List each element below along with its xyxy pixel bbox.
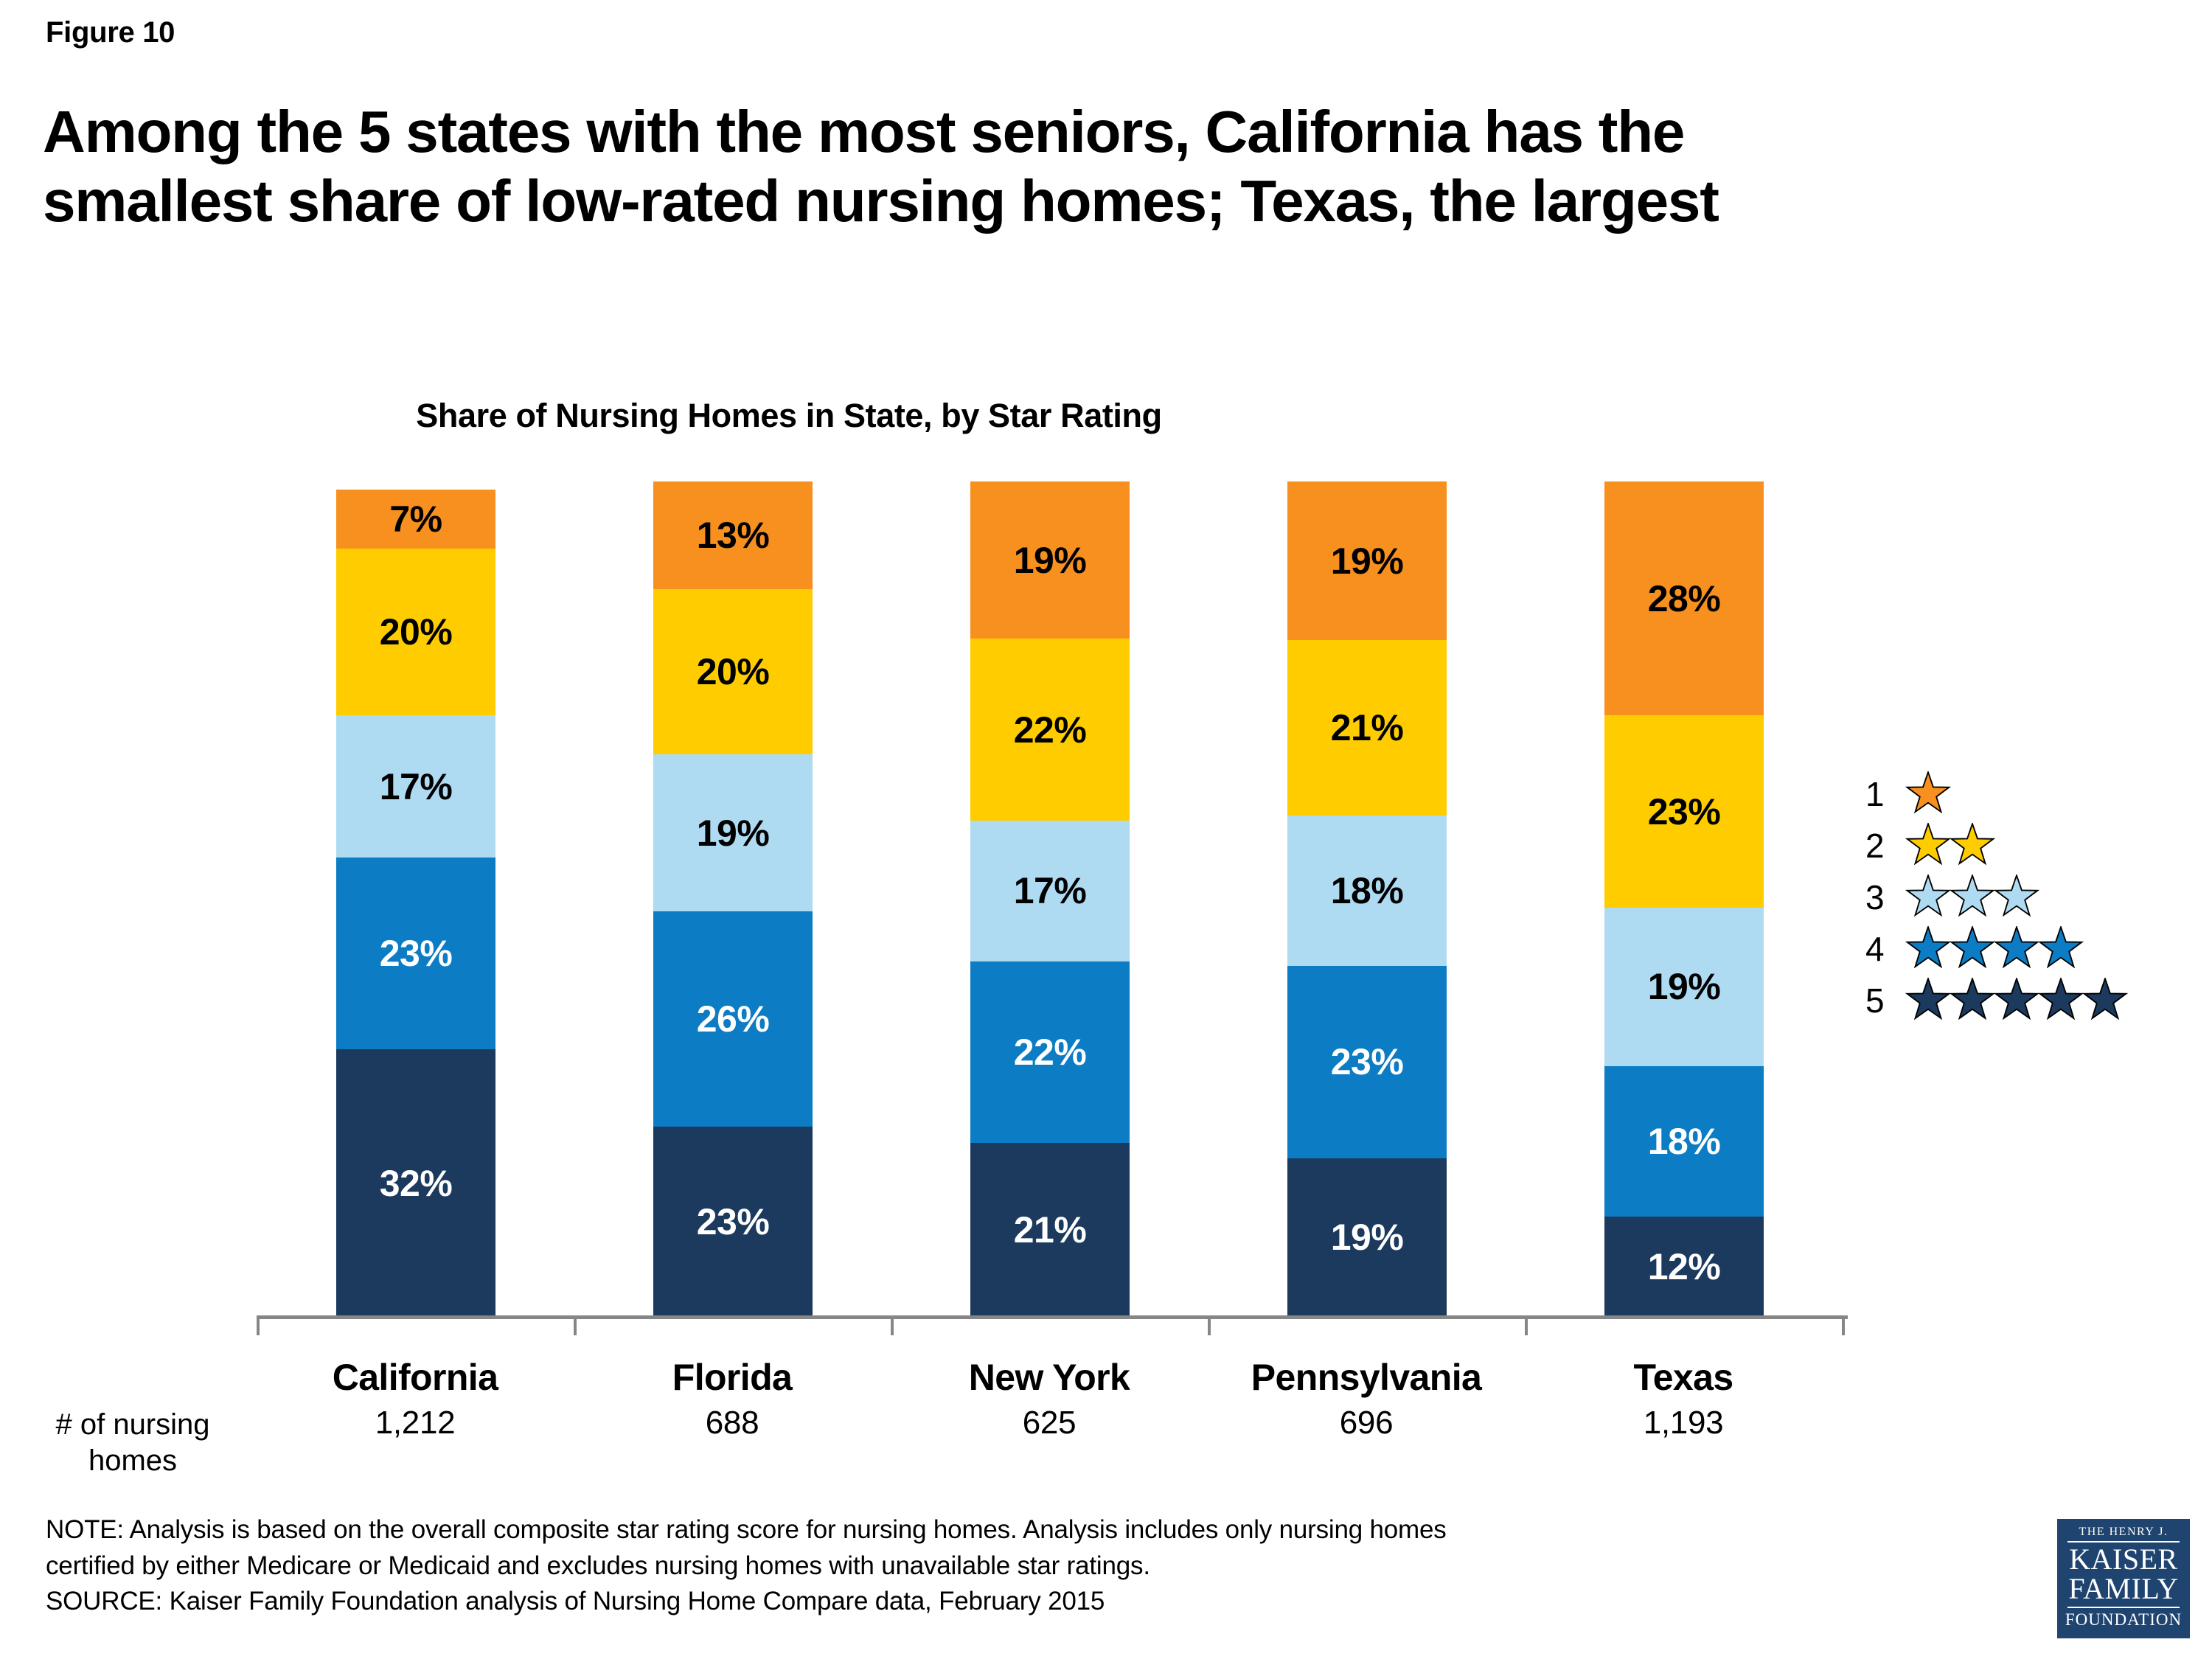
bar-column: 19%22%17%22%21% bbox=[970, 481, 1130, 1317]
bar-segment-label: 19% bbox=[697, 815, 770, 852]
bar-segment: 21% bbox=[970, 1143, 1130, 1317]
x-axis-category-count: 688 bbox=[574, 1406, 891, 1440]
star-icon bbox=[1905, 771, 1950, 817]
x-axis-tick bbox=[1525, 1317, 1528, 1335]
x-axis-category-count: 1,193 bbox=[1525, 1406, 1842, 1440]
bar-segment: 23% bbox=[1287, 966, 1447, 1158]
star-icon bbox=[1950, 926, 1994, 972]
chart-plot-area: 7%20%17%23%32%13%20%19%26%23%19%22%17%22… bbox=[257, 481, 1849, 1317]
page-title-line-2: smallest share of low-rated nursing home… bbox=[43, 167, 2181, 236]
bar-segment: 23% bbox=[1604, 715, 1764, 908]
footnote-note-line-2: certified by either Medicare or Medicaid… bbox=[46, 1549, 2007, 1584]
star-icon bbox=[1905, 823, 1950, 869]
bar-segment: 17% bbox=[970, 821, 1130, 961]
bar-segment: 12% bbox=[1604, 1217, 1764, 1317]
x-axis-category-name: California bbox=[257, 1357, 574, 1397]
x-axis-tick bbox=[574, 1317, 577, 1335]
legend-row-5-star[interactable]: 5 bbox=[1865, 975, 2126, 1026]
bar-segment: 19% bbox=[1604, 908, 1764, 1066]
bar-segment: 22% bbox=[970, 961, 1130, 1144]
logo-divider-bottom bbox=[2067, 1607, 2180, 1608]
legend-star-group bbox=[1905, 978, 2126, 1023]
bar-segment: 21% bbox=[1287, 640, 1447, 815]
logo-line-1: THE HENRY J. bbox=[2057, 1526, 2190, 1539]
x-axis-category-group: California1,212 bbox=[257, 1357, 574, 1440]
star-icon bbox=[1905, 874, 1950, 920]
x-axis-category-count: 1,212 bbox=[257, 1406, 574, 1440]
axis-row-label-line-2: homes bbox=[22, 1443, 243, 1479]
bar-segment-label: 23% bbox=[380, 935, 453, 972]
star-icon bbox=[2038, 978, 2082, 1023]
chart-subtitle: Share of Nursing Homes in State, by Star… bbox=[0, 397, 1578, 435]
x-axis-tick bbox=[257, 1317, 260, 1335]
legend-star-group bbox=[1905, 926, 2082, 972]
bar-segment: 7% bbox=[336, 490, 495, 548]
x-axis-category-group: Texas1,193 bbox=[1525, 1357, 1842, 1440]
axis-row-label-line-1: # of nursing bbox=[22, 1407, 243, 1443]
footnote: NOTE: Analysis is based on the overall c… bbox=[46, 1513, 2007, 1621]
x-axis-tick bbox=[891, 1317, 894, 1335]
legend-rating-number: 5 bbox=[1865, 984, 1901, 1018]
kaiser-family-foundation-logo: THE HENRY J. KAISER FAMILY FOUNDATION bbox=[2057, 1519, 2190, 1638]
star-icon bbox=[1994, 926, 2038, 972]
bar-segment: 18% bbox=[1604, 1066, 1764, 1217]
bar-segment-label: 19% bbox=[1014, 542, 1087, 579]
bar-segment-label: 18% bbox=[1648, 1123, 1721, 1160]
bar-segment: 19% bbox=[1287, 481, 1447, 640]
bar-segment-label: 26% bbox=[697, 1001, 770, 1037]
bar-column: 28%23%19%18%12% bbox=[1604, 481, 1764, 1317]
bar-segment: 17% bbox=[336, 715, 495, 858]
bar-segment-label: 20% bbox=[697, 653, 770, 690]
x-axis-category-name: Florida bbox=[574, 1357, 891, 1397]
bar-segment: 26% bbox=[653, 911, 813, 1127]
legend-star-group bbox=[1905, 771, 1950, 817]
bar-segment-label: 23% bbox=[1648, 793, 1721, 830]
bar-segment-label: 19% bbox=[1331, 543, 1404, 580]
x-axis-category-name: New York bbox=[891, 1357, 1208, 1397]
bar-segment-label: 19% bbox=[1331, 1219, 1404, 1256]
bar-segment-label: 19% bbox=[1648, 968, 1721, 1005]
chart-legend: 12345 bbox=[1865, 768, 2126, 1026]
bar-segment: 18% bbox=[1287, 815, 1447, 966]
bar-segment: 32% bbox=[336, 1049, 495, 1317]
bar-segment: 23% bbox=[336, 858, 495, 1050]
bar-segment: 19% bbox=[1287, 1158, 1447, 1317]
bar-segment-label: 22% bbox=[1014, 712, 1087, 748]
axis-row-label: # of nursing homes bbox=[22, 1407, 243, 1479]
bar-segment-label: 28% bbox=[1648, 580, 1721, 617]
x-axis-category-count: 696 bbox=[1208, 1406, 1525, 1440]
bar-segment: 19% bbox=[653, 754, 813, 911]
logo-line-3: FAMILY bbox=[2057, 1574, 2190, 1604]
logo-line-4: FOUNDATION bbox=[2057, 1610, 2190, 1629]
bar-segment-label: 18% bbox=[1331, 872, 1404, 909]
bar-segment: 28% bbox=[1604, 481, 1764, 715]
x-axis-category-name: Pennsylvania bbox=[1208, 1357, 1525, 1397]
bar-segment-label: 23% bbox=[697, 1203, 770, 1240]
page-title: Among the 5 states with the most seniors… bbox=[43, 97, 2181, 235]
star-icon bbox=[1994, 978, 2038, 1023]
bar-segment-label: 32% bbox=[380, 1165, 453, 1202]
bar-segment-label: 13% bbox=[697, 517, 770, 554]
bar-segment: 20% bbox=[336, 549, 495, 716]
bar-column: 13%20%19%26%23% bbox=[653, 481, 813, 1317]
x-axis-category-name: Texas bbox=[1525, 1357, 1842, 1397]
bar-segment-label: 22% bbox=[1014, 1034, 1087, 1071]
bar-segment-label: 20% bbox=[380, 613, 453, 650]
logo-line-2: KAISER bbox=[2057, 1545, 2190, 1575]
star-icon bbox=[1905, 926, 1950, 972]
legend-star-group bbox=[1905, 823, 1994, 869]
legend-row-1-star[interactable]: 1 bbox=[1865, 768, 2126, 820]
legend-row-2-star[interactable]: 2 bbox=[1865, 820, 2126, 872]
star-icon bbox=[1905, 978, 1950, 1023]
bar-segment: 20% bbox=[653, 589, 813, 754]
bar-segment-label: 23% bbox=[1331, 1043, 1404, 1080]
bar-column: 7%20%17%23%32% bbox=[336, 481, 495, 1317]
legend-row-3-star[interactable]: 3 bbox=[1865, 872, 2126, 923]
bar-segment: 19% bbox=[970, 481, 1130, 639]
x-axis-category-count: 625 bbox=[891, 1406, 1208, 1440]
footnote-note-line-1: NOTE: Analysis is based on the overall c… bbox=[46, 1513, 2007, 1548]
x-axis-tick bbox=[1842, 1317, 1845, 1335]
star-icon bbox=[2038, 926, 2082, 972]
page-title-line-1: Among the 5 states with the most seniors… bbox=[43, 97, 2181, 167]
star-icon bbox=[1950, 874, 1994, 920]
bar-column: 19%21%18%23%19% bbox=[1287, 481, 1447, 1317]
figure-number: Figure 10 bbox=[46, 16, 175, 49]
legend-star-group bbox=[1905, 874, 2038, 920]
star-icon bbox=[1950, 823, 1994, 869]
star-icon bbox=[1950, 978, 1994, 1023]
star-icon bbox=[1994, 874, 2038, 920]
legend-rating-number: 2 bbox=[1865, 829, 1901, 863]
bar-segment-label: 17% bbox=[1014, 872, 1087, 909]
bar-segment-label: 7% bbox=[389, 501, 442, 538]
bar-segment-label: 12% bbox=[1648, 1248, 1721, 1285]
bar-segment: 22% bbox=[970, 639, 1130, 821]
bar-segment: 23% bbox=[653, 1127, 813, 1317]
x-axis-category-group: Florida688 bbox=[574, 1357, 891, 1440]
x-axis-tick bbox=[1208, 1317, 1211, 1335]
x-axis-line bbox=[257, 1315, 1848, 1319]
legend-rating-number: 3 bbox=[1865, 880, 1901, 914]
legend-rating-number: 1 bbox=[1865, 777, 1901, 811]
bar-segment-label: 21% bbox=[1331, 709, 1404, 746]
legend-rating-number: 4 bbox=[1865, 932, 1901, 966]
bar-segment-label: 17% bbox=[380, 768, 453, 805]
legend-row-4-star[interactable]: 4 bbox=[1865, 923, 2126, 975]
bar-segment-label: 21% bbox=[1014, 1211, 1087, 1248]
x-axis-category-group: Pennsylvania696 bbox=[1208, 1357, 1525, 1440]
bar-segment: 13% bbox=[653, 481, 813, 589]
footnote-source: SOURCE: Kaiser Family Foundation analysi… bbox=[46, 1585, 2007, 1619]
star-icon bbox=[2082, 978, 2126, 1023]
x-axis-category-group: New York625 bbox=[891, 1357, 1208, 1440]
